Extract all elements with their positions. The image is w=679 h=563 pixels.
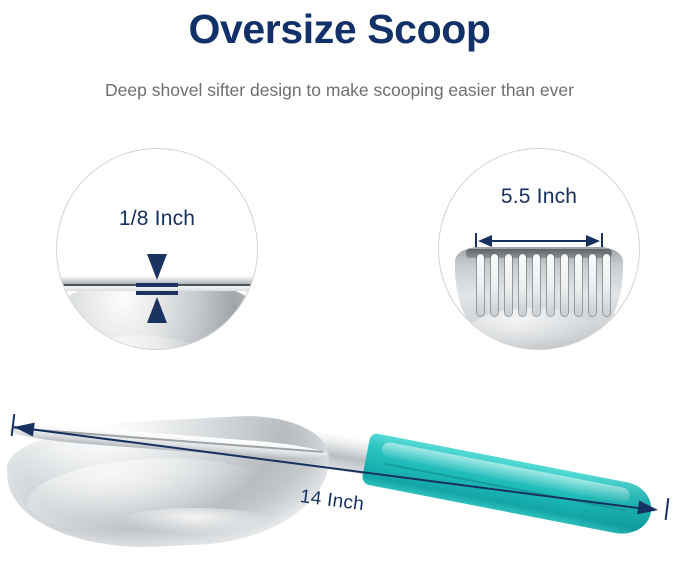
- width-arrowhead-left-icon: [478, 235, 492, 247]
- thickness-arrow-down-icon: [147, 254, 167, 280]
- scoop-slot: [533, 254, 540, 316]
- scoop-slot: [575, 254, 582, 316]
- product-infographic: Oversize Scoop Deep shovel sifter design…: [0, 0, 679, 563]
- thickness-gauge-bar-bottom: [136, 291, 178, 295]
- width-arrow-line: [483, 240, 595, 242]
- scoop-slot: [477, 254, 484, 316]
- thickness-arrow-up-icon: [147, 297, 167, 323]
- length-arrow-cap-right: [665, 498, 670, 520]
- slotted-scoop-image: [455, 247, 623, 350]
- thickness-label: 1/8 Inch: [57, 207, 257, 231]
- page-title: Oversize Scoop: [0, 2, 679, 56]
- scoop-handle: [361, 432, 656, 538]
- width-label: 5.5 Inch: [439, 185, 639, 209]
- length-arrowhead-right-icon: [637, 500, 659, 516]
- scoop-slot: [589, 254, 596, 316]
- scoop-slot: [603, 254, 610, 316]
- page-subtitle: Deep shovel sifter design to make scoopi…: [0, 78, 679, 102]
- scoop-slot: [519, 254, 526, 316]
- scoop-bowl-bottom-gloss: [120, 508, 270, 534]
- thickness-gauge-bar-top: [136, 283, 178, 287]
- scoop-slot: [505, 254, 512, 316]
- scoop-slot: [491, 254, 498, 316]
- length-arrowhead-left-icon: [13, 420, 35, 436]
- scoop-slot: [547, 254, 554, 316]
- width-arrowhead-right-icon: [586, 235, 600, 247]
- product-photo: 14 Inch: [0, 396, 679, 563]
- length-label: 14 Inch: [299, 486, 366, 516]
- callout-width: 5.5 Inch: [438, 148, 640, 350]
- scoop-slot: [561, 254, 568, 316]
- callout-thickness: 1/8 Inch: [56, 148, 258, 350]
